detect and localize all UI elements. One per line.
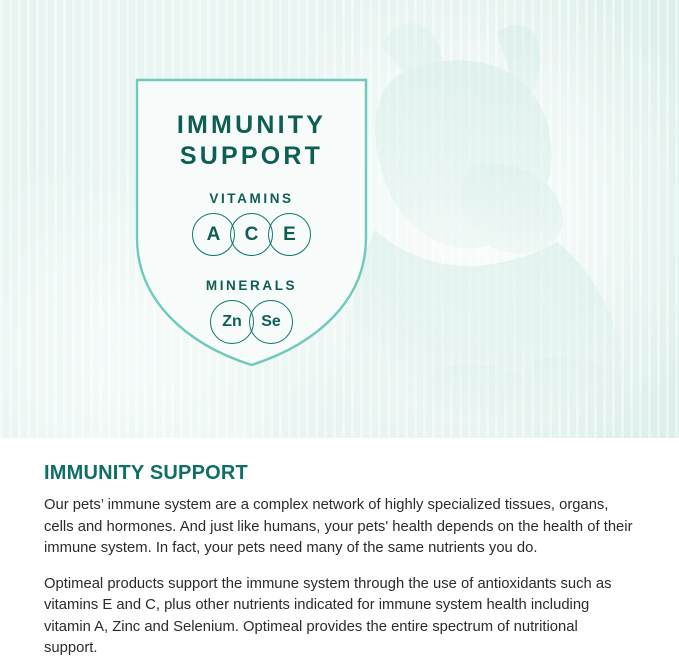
product-info-page: IMMUNITY SUPPORT VITAMINS A C E MINERALS… [0,0,679,662]
description-paragraph-2: Optimeal products support the immune sys… [44,574,634,660]
badge-title-line1: IMMUNITY [177,110,326,141]
hero-banner: IMMUNITY SUPPORT VITAMINS A C E MINERALS… [0,0,679,438]
vitamins-circles: A C E [192,213,311,256]
description-paragraph-1: Our pets’ immune system are a complex ne… [44,495,634,560]
vitamins-label: VITAMINS [209,191,293,206]
vitamin-circle-a: A [192,213,235,256]
shield-badge: IMMUNITY SUPPORT VITAMINS A C E MINERALS… [129,72,374,372]
vitamin-circle-c: C [230,213,273,256]
badge-title: IMMUNITY SUPPORT [177,110,326,172]
vitamin-circle-e: E [268,213,311,256]
minerals-label: MINERALS [206,278,297,293]
minerals-circles: Zn Se [210,300,293,344]
section-heading: IMMUNITY SUPPORT [44,462,635,485]
mineral-circle-se: Se [249,300,293,344]
badge-title-line2: SUPPORT [177,141,326,172]
mineral-circle-zn: Zn [210,300,254,344]
description-section: IMMUNITY SUPPORT Our pets’ immune system… [0,438,679,662]
